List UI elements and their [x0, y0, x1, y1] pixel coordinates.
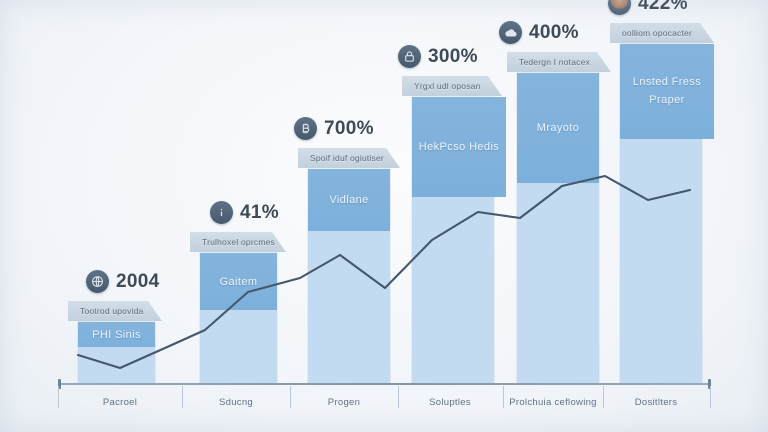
bar-value-label: 41%	[240, 202, 279, 224]
bar-value-label: 300%	[428, 46, 478, 68]
bar-body: Vidlane	[308, 169, 390, 384]
bar-kpi: 422%	[608, 0, 688, 15]
info-icon	[210, 201, 233, 224]
bar-caption: HekPcso Hedis	[412, 97, 506, 197]
bar-group-2[interactable]: Gaitem Trulhoxel oprcmes 41%	[200, 253, 277, 384]
category-label-4: Soluptles	[429, 397, 471, 408]
axis-tick	[58, 386, 59, 408]
axis-tick	[603, 386, 604, 408]
x-axis	[58, 383, 710, 385]
bar-body: Mrayoto	[517, 73, 599, 384]
bar-kpi: 400%	[499, 21, 579, 44]
plot-area: PHI Sinis Tootrod upovida 2004 Gaitem Tr…	[0, 0, 768, 432]
bar-group-5[interactable]: Mrayoto Tedergn I notacex 400%	[517, 73, 599, 384]
chart-canvas: PHI Sinis Tootrod upovida 2004 Gaitem Tr…	[0, 0, 768, 432]
axis-tick	[398, 386, 399, 408]
category-label-6: Dositlters	[635, 397, 678, 408]
cloud-icon	[499, 21, 522, 44]
bar-ribbon: Tedergn I notacex	[507, 52, 611, 72]
category-label-2: Sducng	[219, 397, 253, 408]
bar-value-label: 2004	[116, 271, 159, 293]
bar-ribbon: oolliom opocacter	[610, 23, 714, 43]
bar-ribbon: Yrgxl udl oposan	[402, 76, 502, 96]
bar-kpi: 300%	[398, 45, 478, 68]
bar-group-4[interactable]: HekPcso Hedis Yrgxl udl oposan 300%	[412, 97, 494, 384]
bar-body: PHI Sinis	[78, 322, 155, 384]
axis-tick	[182, 386, 183, 408]
bar-kpi: 41%	[210, 201, 279, 224]
bar-group-6[interactable]: Lnsted Fress Praper oolliom opocacter 42…	[620, 44, 702, 384]
bar-caption: Gaitem	[200, 253, 277, 310]
bar-caption: PHI Sinis	[78, 322, 155, 347]
axis-tick	[710, 386, 711, 408]
globe-icon	[86, 270, 109, 293]
lock-icon	[398, 45, 421, 68]
bar-body: Lnsted Fress Praper	[620, 44, 702, 384]
bar-value-label: 700%	[324, 118, 374, 140]
category-label-5: Prolchuia ceflowing	[509, 397, 597, 408]
bar-kpi: 700%	[294, 117, 374, 140]
bar-body: Gaitem	[200, 253, 277, 384]
avatar-icon	[608, 0, 631, 15]
bar-value-label: 400%	[529, 22, 579, 44]
bar-body: HekPcso Hedis	[412, 97, 494, 384]
bitcoin-icon	[294, 117, 317, 140]
bar-group-3[interactable]: Vidlane Spoif iduf ogiutiser 700%	[308, 169, 390, 384]
category-label-1: Pacroel	[103, 397, 137, 408]
bar-ribbon: Spoif iduf ogiutiser	[298, 148, 400, 168]
bar-caption: Vidlane	[308, 169, 390, 231]
bar-caption: Lnsted Fress Praper	[620, 44, 714, 139]
bar-ribbon: Tootrod upovida	[68, 301, 162, 321]
bar-caption: Mrayoto	[517, 73, 599, 183]
axis-tick	[290, 386, 291, 408]
bar-value-label: 422%	[638, 0, 688, 15]
bar-group-1[interactable]: PHI Sinis Tootrod upovida 2004	[78, 322, 155, 384]
axis-tick	[503, 386, 504, 408]
category-label-3: Progen	[328, 397, 360, 408]
bar-kpi: 2004	[86, 270, 159, 293]
bar-ribbon: Trulhoxel oprcmes	[190, 232, 286, 252]
